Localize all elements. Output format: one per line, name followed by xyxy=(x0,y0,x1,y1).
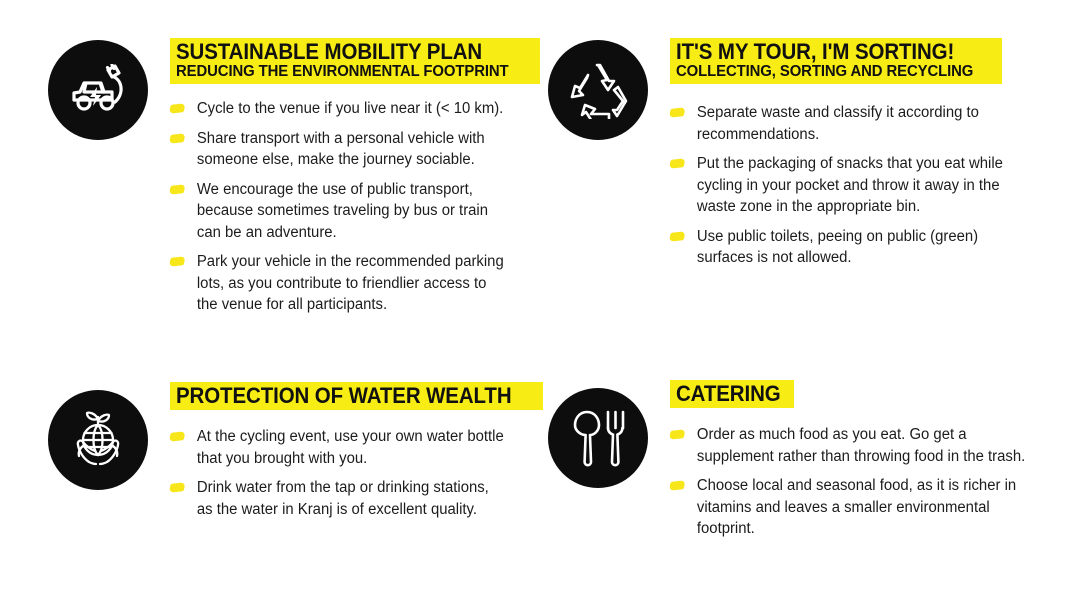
leaf-bullet-icon xyxy=(169,184,186,195)
list-item: Share transport with a personal vehicle … xyxy=(170,128,504,171)
list-item: Cycle to the venue if you live near it (… xyxy=(170,98,504,120)
section-heading: PROTECTION OF WATER WEALTH xyxy=(170,382,543,410)
leaf-bullet-icon xyxy=(669,480,686,491)
list-item-text: Separate waste and classify it according… xyxy=(697,104,979,143)
section-title: PROTECTION OF WATER WEALTH xyxy=(176,384,512,407)
leaf-bullet-icon xyxy=(169,256,186,267)
section-heading: CATERING xyxy=(670,380,794,408)
list-item: Order as much food as you eat. Go get a … xyxy=(670,424,1038,467)
section-subtitle: REDUCING THE ENVIRONMENTAL FOOTPRINT xyxy=(176,63,509,81)
list-item-text: Order as much food as you eat. Go get a … xyxy=(697,426,1025,465)
list-item-text: We encourage the use of public transport… xyxy=(197,181,488,241)
list-item-text: Choose local and seasonal food, as it is… xyxy=(697,477,1016,537)
list-item: Put the packaging of snacks that you eat… xyxy=(670,153,1033,218)
list-item-text: Park your vehicle in the recommended par… xyxy=(197,253,504,313)
section-subtitle: COLLECTING, SORTING AND RECYCLING xyxy=(676,63,973,81)
leaf-bullet-icon xyxy=(169,431,186,442)
recycle-icon xyxy=(548,40,648,140)
list-item: Choose local and seasonal food, as it is… xyxy=(670,475,1038,540)
list-item: At the cycling event, use your own water… xyxy=(170,426,504,469)
section-heading: IT'S MY TOUR, I'M SORTING! COLLECTING, S… xyxy=(670,38,1002,84)
eco-guidelines-poster: SUSTAINABLE MOBILITY PLAN REDUCING THE E… xyxy=(0,0,1065,600)
list-item-text: Cycle to the venue if you live near it (… xyxy=(197,100,503,117)
bullet-list: Cycle to the venue if you live near it (… xyxy=(170,98,518,316)
list-item-text: Use public toilets, peeing on public (gr… xyxy=(697,228,978,267)
list-item-text: At the cycling event, use your own water… xyxy=(197,428,504,467)
section-sustainable-mobility: SUSTAINABLE MOBILITY PLAN REDUCING THE E… xyxy=(48,38,518,316)
electric-car-charging-icon xyxy=(48,40,148,140)
section-sorting-recycling: IT'S MY TOUR, I'M SORTING! COLLECTING, S… xyxy=(548,38,1048,269)
list-item: Drink water from the tap or drinking sta… xyxy=(170,477,504,520)
leaf-bullet-icon xyxy=(669,158,686,169)
list-item: Separate waste and classify it according… xyxy=(670,102,1033,145)
leaf-bullet-icon xyxy=(669,107,686,118)
list-item-text: Put the packaging of snacks that you eat… xyxy=(697,155,1003,215)
leaf-bullet-icon xyxy=(669,231,686,242)
list-item: We encourage the use of public transport… xyxy=(170,179,504,244)
leaf-bullet-icon xyxy=(169,133,186,144)
list-item: Park your vehicle in the recommended par… xyxy=(170,251,504,316)
section-content: SUSTAINABLE MOBILITY PLAN REDUCING THE E… xyxy=(148,38,518,316)
bullet-list: Separate waste and classify it according… xyxy=(670,102,1048,269)
section-title: CATERING xyxy=(676,382,781,405)
leaf-bullet-icon xyxy=(169,103,186,114)
section-heading: SUSTAINABLE MOBILITY PLAN REDUCING THE E… xyxy=(170,38,540,84)
section-content: CATERING Order as much food as you eat. … xyxy=(648,380,1053,540)
list-item: Use public toilets, peeing on public (gr… xyxy=(670,226,1033,269)
list-item-text: Share transport with a personal vehicle … xyxy=(197,130,485,169)
section-catering: CATERING Order as much food as you eat. … xyxy=(548,380,1053,540)
leaf-bullet-icon xyxy=(669,429,686,440)
section-water-protection: PROTECTION OF WATER WEALTH At the cyclin… xyxy=(48,382,518,520)
section-content: PROTECTION OF WATER WEALTH At the cyclin… xyxy=(148,382,518,520)
spoon-and-fork-icon xyxy=(548,388,648,488)
section-content: IT'S MY TOUR, I'M SORTING! COLLECTING, S… xyxy=(648,38,1048,269)
list-item-text: Drink water from the tap or drinking sta… xyxy=(197,479,489,518)
globe-sprout-in-hands-icon xyxy=(48,390,148,490)
bullet-list: At the cycling event, use your own water… xyxy=(170,426,518,520)
bullet-list: Order as much food as you eat. Go get a … xyxy=(670,424,1053,540)
sections-grid: SUSTAINABLE MOBILITY PLAN REDUCING THE E… xyxy=(0,0,1065,600)
leaf-bullet-icon xyxy=(169,482,186,493)
section-title: SUSTAINABLE MOBILITY PLAN xyxy=(176,40,509,63)
section-title: IT'S MY TOUR, I'M SORTING! xyxy=(676,40,973,63)
